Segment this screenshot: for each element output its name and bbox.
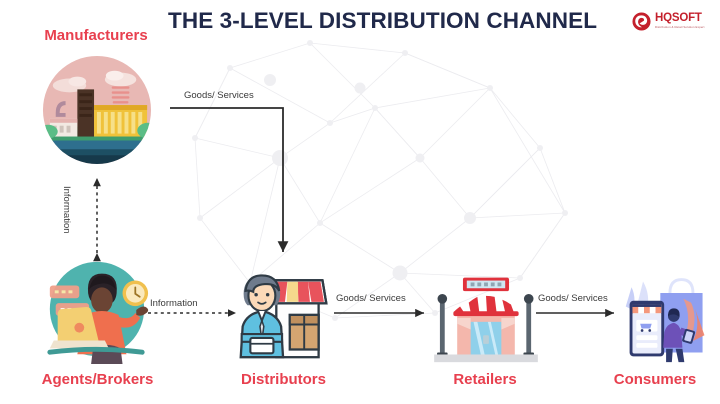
- diagram-canvas: THE 3-LEVEL DISTRIBUTION CHANNEL HQSOFT …: [0, 0, 720, 404]
- edge-label-goods-services-mid: Goods/ Services: [336, 293, 406, 304]
- node-label-agents-brokers: Agents/Brokers: [0, 371, 195, 388]
- storefront-awning-illustration: [434, 270, 538, 366]
- node-label-consumers: Consumers: [590, 371, 720, 388]
- factory-circle-illustration: [38, 54, 156, 166]
- node-label-distributors: Distributors: [196, 371, 371, 388]
- edge-label-goods-services-right: Goods/ Services: [538, 293, 608, 304]
- edge-label-goods-services-top: Goods/ Services: [184, 90, 254, 101]
- node-label-manufacturers: Manufacturers: [0, 27, 192, 44]
- edge-label-information-vertical: Information: [61, 186, 72, 234]
- shopping-bag-mobile-illustration: [620, 270, 716, 366]
- distributor-man-box-illustration: [234, 258, 334, 366]
- node-label-retailers: Retailers: [400, 371, 570, 388]
- person-laptop-illustration: [34, 254, 158, 366]
